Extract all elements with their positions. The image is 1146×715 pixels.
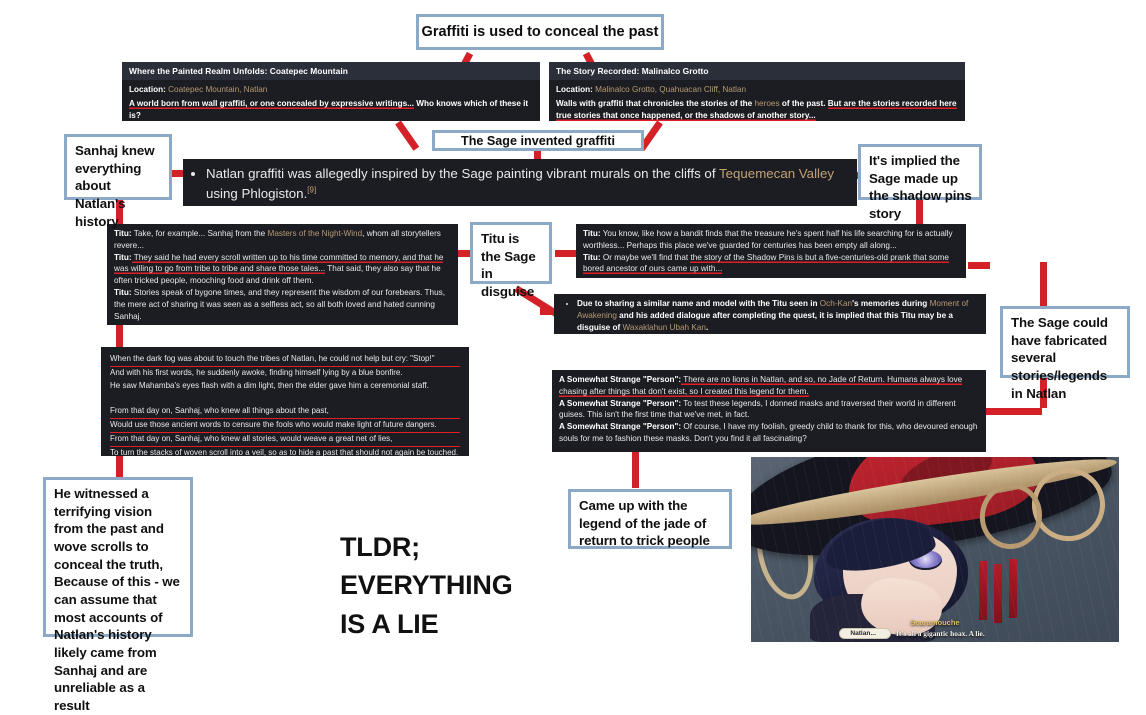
- bullet-reference[interactable]: [9]: [307, 186, 316, 195]
- scroll-line: To turn the stacks of woven scroll into …: [110, 447, 460, 456]
- panel-coatepec-mountain: Where the Painted Realm Unfolds: Coatepe…: [122, 62, 540, 121]
- panel-scroll-quote: When the dark fog was about to touch the…: [101, 347, 469, 456]
- tldr-text: TLDR; EVERYTHING IS A LIE: [340, 528, 513, 643]
- speaker-titu: Titu:: [583, 229, 601, 238]
- rain-overlay: [751, 457, 1119, 642]
- panel-malinalco-grotto: The Story Recorded: Malinalco Grotto Loc…: [549, 62, 965, 121]
- figure-character-name: Scaramouche: [751, 618, 1119, 627]
- dialogue-line: A Somewhat Strange "Person": Of course, …: [559, 421, 979, 445]
- link-waxaklahun-ubah-kan[interactable]: Waxaklahun Ubah Kan: [623, 323, 706, 332]
- malinalco-mid: of the past.: [780, 99, 828, 108]
- line-pre: Take, for example... Sanhaj from the: [132, 229, 268, 238]
- panel-titu-shadow-pins: Titu: You know, like how a bandit finds …: [576, 224, 966, 278]
- panel-titu-about-sanhaj: Titu: Take, for example... Sanhaj from t…: [107, 224, 458, 325]
- callout-jade-of-return-legend: Came up with the legend of the jade of r…: [568, 489, 732, 549]
- speaker-strange-person: A Somewhat Strange "Person":: [559, 375, 681, 384]
- connector-fabricated-up: [1040, 262, 1047, 306]
- dialogue-line: Titu: They said he had every scroll writ…: [114, 252, 451, 287]
- dialogue-line: Titu: Take, for example... Sanhaj from t…: [114, 228, 451, 252]
- sage-claim-box: The Sage invented graffiti: [432, 130, 644, 151]
- titu-note-bullet: Due to sharing a similar name and model …: [577, 298, 978, 333]
- top-claim-box: Graffiti is used to conceal the past: [416, 14, 664, 50]
- callout-he-witnessed-vision: He witnessed a terrifying vision from th…: [43, 477, 193, 637]
- speaker-titu: Titu:: [114, 288, 132, 297]
- link-och-kan[interactable]: Och-Kan: [820, 299, 852, 308]
- dialogue-line: A Somewhat Strange "Person": There are n…: [559, 374, 979, 398]
- speaker-titu: Titu:: [114, 253, 132, 262]
- note-post: .: [706, 323, 708, 332]
- panel-malinalco-header: The Story Recorded: Malinalco Grotto: [549, 62, 965, 80]
- bullet-post: using Phlogiston.: [206, 186, 307, 201]
- callout-titu-is-sage-disguise: Titu is the Sage in disguise: [470, 222, 552, 284]
- speaker-strange-person: A Somewhat Strange "Person":: [559, 399, 681, 408]
- location-value: Malinalco Grotto, Quahuacan Cliff, Natla…: [595, 85, 746, 94]
- scroll-line: And with his first words, he suddenly aw…: [110, 367, 460, 380]
- scroll-line: From that day on, Sanhaj, who knew all s…: [110, 433, 460, 447]
- dialogue-line: Titu: You know, like how a bandit finds …: [583, 228, 959, 252]
- speaker-titu: Titu:: [583, 253, 601, 262]
- dialogue-line-text: It's all a gigantic hoax. A lie.: [896, 629, 985, 638]
- connector-strange-to-jade: [632, 452, 639, 488]
- line-plain: Stories speak of bygone times, and they …: [114, 288, 445, 321]
- panel-titu-identity-note: Due to sharing a similar name and model …: [554, 294, 986, 334]
- malinalco-link-heroes[interactable]: heroes: [755, 99, 780, 108]
- coatepec-underlined: A world born from wall graffiti, or one …: [129, 99, 414, 109]
- dialogue-option-button[interactable]: Natlan...: [839, 628, 891, 639]
- connector-titu-to-shadowpinspanel: [555, 250, 577, 257]
- figure-dialogue-bar: Natlan... It's all a gigantic hoax. A li…: [751, 627, 1119, 640]
- panel-coatepec-body: A world born from wall graffiti, or one …: [129, 97, 533, 121]
- sage-claim-text: The Sage invented graffiti: [461, 134, 615, 148]
- panel-coatepec-header: Where the Painted Realm Unfolds: Coatepe…: [122, 62, 540, 80]
- speaker-strange-person: A Somewhat Strange "Person":: [559, 422, 681, 431]
- location-label: Location:: [556, 85, 593, 94]
- scroll-gap: [110, 393, 460, 405]
- connector-shadowpins-panel-right: [968, 262, 990, 269]
- line-plain: You know, like how a bandit finds that t…: [583, 229, 953, 250]
- link-masters-night-wind[interactable]: Masters of the Night-Wind: [268, 229, 363, 238]
- theory-board: Graffiti is used to conceal the past Whe…: [0, 0, 1146, 654]
- top-claim-text: Graffiti is used to conceal the past: [422, 24, 659, 40]
- location-value: Coatepec Mountain, Natlan: [168, 85, 267, 94]
- panel-sage-murals: Natlan graffiti was allegedly inspired b…: [183, 159, 857, 206]
- scroll-line: When the dark fog was about to touch the…: [110, 353, 460, 367]
- scaramouche-screenshot: Scaramouche Natlan... It's all a giganti…: [751, 457, 1119, 642]
- callout-shadow-pins-story: It's implied the Sage made up the shadow…: [858, 144, 982, 200]
- dialogue-line: Titu: Or maybe we'll find that the story…: [583, 252, 959, 276]
- dialogue-line: Titu: Stories speak of bygone times, and…: [114, 287, 451, 322]
- sage-mural-bullet: Natlan graffiti was allegedly inspired b…: [206, 164, 849, 204]
- location-label: Location:: [129, 85, 166, 94]
- line-pre: Or maybe we'll find that: [601, 253, 691, 262]
- callout-sanhaj-knew-everything: Sanhaj knew everything about Natlan's hi…: [64, 134, 172, 200]
- scroll-line: He saw Mahamba's eyes flash with a dim l…: [110, 380, 460, 393]
- scroll-line: Would use those ancient words to censure…: [110, 419, 460, 433]
- malinalco-pre: Walls with graffiti that chronicles the …: [556, 99, 755, 108]
- connector-coatepec-to-sageclaim: [395, 120, 419, 150]
- panel-coatepec-location: Location: Coatepec Mountain, Natlan: [129, 83, 533, 97]
- callout-sage-fabricated-stories: The Sage could have fabricated several s…: [1000, 306, 1130, 378]
- bullet-pre: Natlan graffiti was allegedly inspired b…: [206, 166, 719, 181]
- panel-malinalco-body: Walls with graffiti that chronicles the …: [556, 97, 958, 121]
- panel-malinalco-location: Location: Malinalco Grotto, Quahuacan Cl…: [556, 83, 958, 97]
- bullet-link-tequemecan[interactable]: Tequemecan Valley: [719, 166, 834, 181]
- dialogue-line: A Somewhat Strange "Person": To test the…: [559, 398, 979, 422]
- note-pre: Due to sharing a similar name and model …: [577, 299, 820, 308]
- note-mid1: 's memories during: [852, 299, 929, 308]
- panel-strange-person: A Somewhat Strange "Person": There are n…: [552, 370, 986, 452]
- scroll-line: From that day on, Sanhaj, who knew all t…: [110, 405, 460, 419]
